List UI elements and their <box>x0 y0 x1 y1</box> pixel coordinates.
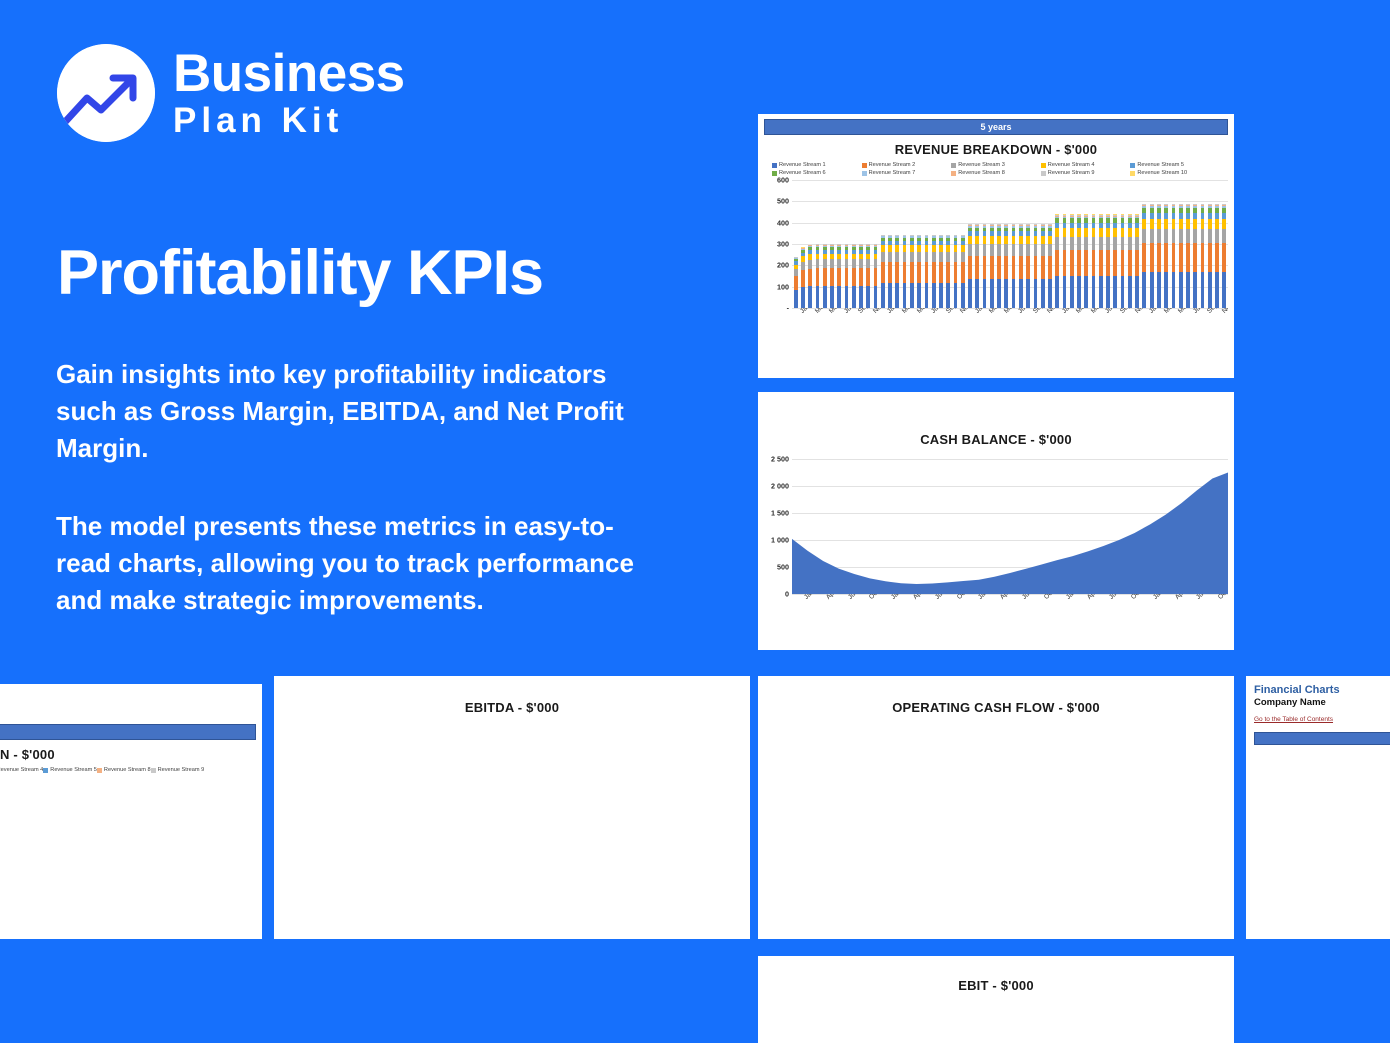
bar-segment <box>1201 219 1205 228</box>
stacked-bar <box>1142 203 1146 308</box>
bar-segment <box>910 283 914 308</box>
bar-slot <box>1104 180 1111 308</box>
bar-segment <box>852 268 856 286</box>
legend-swatch <box>951 163 956 168</box>
bar-segment <box>1142 243 1146 272</box>
bar-segment <box>1179 219 1183 228</box>
bar-segment <box>888 252 892 262</box>
bar-segment <box>975 244 979 256</box>
bar-segment <box>1222 272 1226 308</box>
sheet-header-24-months: 24 months <box>0 724 256 740</box>
bar-slot <box>1163 180 1170 308</box>
stacked-bar <box>1215 203 1219 308</box>
legend-label: Revenue Stream 9 <box>158 767 205 773</box>
bar-segment <box>983 279 987 308</box>
bar-segment <box>808 260 812 269</box>
bar-slot <box>1141 180 1148 308</box>
bar-segment <box>1164 219 1168 228</box>
bar-segment <box>1092 228 1096 236</box>
legend-item: Revenue Stream 1 <box>772 162 862 168</box>
yaxis-tick: 1 000 <box>771 536 789 545</box>
bar-segment <box>1004 256 1008 279</box>
plot-ebitda <box>274 724 750 859</box>
stacked-bar <box>874 244 878 308</box>
bar-slot <box>886 180 893 308</box>
stacked-bar <box>925 234 929 308</box>
bar-segment <box>1084 250 1088 276</box>
stacked-bar <box>917 234 921 308</box>
bar-segment <box>1070 228 1074 236</box>
bar-segment <box>1106 250 1110 276</box>
yaxis-tick: 300 <box>777 240 789 249</box>
legend-item: Revenue Stream 8 <box>951 170 1041 176</box>
bar-segment <box>975 236 979 244</box>
legend-label: Revenue Stream 5 <box>1137 162 1184 168</box>
xaxis-tick-label: Jan-25 <box>803 594 822 601</box>
bar-segment <box>845 286 849 308</box>
bar-segment <box>946 283 950 308</box>
legend-swatch <box>1041 163 1046 168</box>
bar-segment <box>1026 256 1030 279</box>
legend-item: Revenue Stream 4 <box>1041 162 1131 168</box>
bar-segment <box>990 236 994 244</box>
xaxis-ebitda <box>274 859 750 903</box>
bar-segment <box>808 286 812 308</box>
bar-segment <box>1055 237 1059 250</box>
legend-swatch <box>97 768 102 773</box>
bar-segment <box>997 256 1001 279</box>
company-name: Company Name <box>1254 697 1390 708</box>
bar-segment <box>1019 236 1023 244</box>
chart-title-cash-balance: CASH BALANCE - $'000 <box>758 432 1234 447</box>
bar-slot <box>959 180 966 308</box>
bar-segment <box>1121 276 1125 308</box>
bar-segment <box>1055 276 1059 308</box>
legend-item: Revenue Stream 8 <box>97 767 151 773</box>
bar-segment <box>1041 244 1045 256</box>
stacked-bar <box>823 244 827 308</box>
bar-segment <box>939 262 943 282</box>
bar-slot <box>1068 180 1075 308</box>
bar-segment <box>1186 229 1190 244</box>
bar-segment <box>859 259 863 268</box>
stacked-bar <box>990 224 994 308</box>
bar-segment <box>1222 243 1226 272</box>
xaxis-tick-label: Apr-27 <box>999 594 1018 601</box>
xaxis-tick-label: Oct-28 <box>1130 594 1149 601</box>
sheet-header-5-years: 5 years <box>764 119 1228 135</box>
bar-segment <box>1215 272 1219 308</box>
bar-segment <box>1172 219 1176 228</box>
bar-slot <box>1221 180 1228 308</box>
bar-slot <box>1199 180 1206 308</box>
bar-segment <box>1055 228 1059 236</box>
bar-segment <box>1135 228 1139 236</box>
stacked-bar <box>852 244 856 308</box>
bar-segment <box>1150 229 1154 244</box>
bar-slot <box>1075 180 1082 308</box>
legend-item: Revenue Stream 10 <box>1130 170 1220 176</box>
bar-segment <box>794 276 798 290</box>
stacked-bar <box>1012 224 1016 308</box>
chart-title-ebit: EBIT - $'000 <box>758 978 1234 993</box>
bar-segment <box>830 268 834 286</box>
bar-segment <box>1048 256 1052 279</box>
stacked-bar <box>1048 224 1052 308</box>
legend-swatch <box>1130 163 1135 168</box>
legend-swatch <box>951 171 956 176</box>
bar-segment <box>939 245 943 252</box>
legend-label: Revenue Stream 9 <box>1048 170 1095 176</box>
stacked-bar <box>910 234 914 308</box>
bar-segment <box>1026 279 1030 308</box>
bar-segment <box>903 252 907 262</box>
plot-ebit <box>758 999 1234 1043</box>
bar-segment <box>1012 279 1016 308</box>
bar-segment <box>801 287 805 308</box>
bar-segment <box>888 283 892 308</box>
bar-segment <box>859 268 863 286</box>
bar-segment <box>1172 243 1176 272</box>
stacked-bar <box>888 234 892 308</box>
plot-financial-preview <box>1246 771 1390 896</box>
stacked-bar <box>968 224 972 308</box>
bar-slot <box>1003 180 1010 308</box>
yaxis-tick: 600 <box>777 176 789 185</box>
bar-slot <box>843 180 850 308</box>
bar-segment <box>1106 276 1110 308</box>
bar-segment <box>939 283 943 308</box>
bar-segment <box>1179 243 1183 272</box>
bar-segment <box>1121 250 1125 276</box>
bar-segment <box>1208 243 1212 272</box>
stacked-bar <box>1077 214 1081 308</box>
stacked-bar <box>1063 214 1067 308</box>
bar-segment <box>961 245 965 252</box>
bar-segment <box>968 256 972 279</box>
bar-segment <box>961 262 965 282</box>
bar-segment <box>801 262 805 271</box>
table-of-contents-link[interactable]: Go to the Table of Contents <box>1254 716 1333 723</box>
bar-slot <box>1213 180 1220 308</box>
bar-segment <box>1172 229 1176 244</box>
bar-segment <box>1041 236 1045 244</box>
sheet-header-bar <box>1254 732 1390 745</box>
legend-item: Revenue Stream 5 <box>43 767 97 773</box>
bar-segment <box>1201 272 1205 308</box>
bar-slot <box>879 180 886 308</box>
bar-segment <box>881 262 885 282</box>
xaxis-labels: Jan-25Apr-25Jul-25Oct-25Jan-26Apr-26Jul-… <box>792 594 1228 634</box>
stacked-bar <box>932 234 936 308</box>
stacked-bar <box>1193 203 1197 308</box>
bar-segment <box>1070 276 1074 308</box>
bar-segment <box>1019 279 1023 308</box>
bar-segment <box>1179 272 1183 308</box>
bar-slot <box>807 180 814 308</box>
yaxis-tick: 1 500 <box>771 509 789 518</box>
bar-segment <box>823 268 827 286</box>
grid-area <box>792 180 1228 308</box>
bar-segment <box>1004 279 1008 308</box>
bar-segment <box>1150 219 1154 228</box>
bar-segment <box>1026 244 1030 256</box>
bar-segment <box>1034 244 1038 256</box>
bar-segment <box>823 259 827 268</box>
bar-slot <box>1097 180 1104 308</box>
bar-slot <box>1119 180 1126 308</box>
legend-item: Revenue Stream 2 <box>862 162 952 168</box>
bar-segment <box>903 245 907 252</box>
bar-segment <box>1215 229 1219 244</box>
bar-segment <box>1222 219 1226 228</box>
bar-segment <box>888 262 892 282</box>
legend-item: Revenue Stream 7 <box>862 170 952 176</box>
card-revenue-breakdown-24m[interactable]: 24 months REAKDOWN - $'000 Revenue Strea… <box>0 684 262 939</box>
bar-segment <box>954 252 958 262</box>
stacked-bar <box>1201 203 1205 308</box>
bar-segment <box>910 245 914 252</box>
legend-label: Revenue Stream 4 <box>0 767 43 773</box>
bar-segment <box>1128 250 1132 276</box>
bar-segment <box>1135 237 1139 250</box>
bar-segment <box>816 259 820 268</box>
xaxis-tick-label: Apr-25 <box>825 594 844 601</box>
stacked-bar <box>816 244 820 308</box>
xaxis-labels: Jan-25Mar-25May-25Jul-25Sep-25Nov-25Jan-… <box>792 308 1228 348</box>
bar-segment <box>1026 236 1030 244</box>
legend-label: Revenue Stream 10 <box>1137 170 1187 176</box>
bar-slot <box>792 180 799 308</box>
chart-title-ebitda: EBITDA - $'000 <box>274 700 750 715</box>
bar-slot <box>828 180 835 308</box>
bar-segment <box>1113 237 1117 250</box>
bar-segment <box>794 269 798 276</box>
bar-segment <box>917 262 921 282</box>
legend-label: Revenue Stream 8 <box>104 767 151 773</box>
stacked-bar <box>1157 203 1161 308</box>
bar-segment <box>895 245 899 252</box>
bar-segment <box>917 245 921 252</box>
bar-segment <box>1201 243 1205 272</box>
bar-segment <box>997 279 1001 308</box>
bar-segment <box>845 259 849 268</box>
bar-slot <box>1126 180 1133 308</box>
xaxis-tick-label: Jul-27 <box>1021 594 1039 601</box>
legend-label: Revenue Stream 8 <box>958 170 1005 176</box>
stacked-bar <box>1099 214 1103 308</box>
bar-segment <box>1164 243 1168 272</box>
bar-segment <box>1157 272 1161 308</box>
bar-segment <box>852 259 856 268</box>
legend-swatch <box>862 171 867 176</box>
bar-slot <box>974 180 981 308</box>
stacked-bar <box>1092 214 1096 308</box>
bar-segment <box>1193 243 1197 272</box>
stacked-bar <box>1113 214 1117 308</box>
bar-slot <box>908 180 915 308</box>
bar-segment <box>1092 250 1096 276</box>
bar-segment <box>874 286 878 308</box>
bar-segment <box>881 245 885 252</box>
bar-segment <box>968 279 972 308</box>
stacked-bar <box>975 224 979 308</box>
bar-series <box>792 180 1228 308</box>
card-financial-charts[interactable]: Financial Charts Company Name Go to the … <box>1246 676 1390 939</box>
bar-segment <box>845 268 849 286</box>
card-revenue-breakdown-5y[interactable]: 5 years REVENUE BREAKDOWN - $'000 Revenu… <box>758 114 1234 378</box>
bar-segment <box>968 244 972 256</box>
stacked-bar <box>1070 214 1074 308</box>
stacked-bar <box>1179 203 1183 308</box>
yaxis-tick: 2 000 <box>771 482 789 491</box>
xaxis-tick-label: Oct-26 <box>956 594 975 601</box>
bar-segment <box>866 286 870 308</box>
bar-segment <box>1019 244 1023 256</box>
stacked-bar <box>1055 214 1059 308</box>
bar-segment <box>1004 236 1008 244</box>
bar-segment <box>961 283 965 308</box>
plot-operating-cash-flow <box>758 722 1234 859</box>
xaxis-tick-label: Jan-28 <box>1065 594 1084 601</box>
yaxis-tick: 100 <box>777 282 789 291</box>
legend-swatch <box>1130 171 1135 176</box>
xaxis-revenue-breakdown: Jan-25Mar-25May-25Jul-25Sep-25Nov-25Jan-… <box>758 308 1234 352</box>
bar-segment <box>1012 244 1016 256</box>
bar-segment <box>1099 237 1103 250</box>
bar-segment <box>1142 229 1146 244</box>
stacked-bar <box>1222 203 1226 308</box>
bar-segment <box>1208 229 1212 244</box>
plot-revenue-breakdown-24m <box>0 787 262 897</box>
bar-slot <box>930 180 937 308</box>
bar-segment <box>1150 272 1154 308</box>
bar-segment <box>983 256 987 279</box>
chart-legend-revenue-breakdown: Revenue Stream 1Revenue Stream 2Revenue … <box>758 162 1234 178</box>
brand-name-line2: Plan Kit <box>173 103 405 140</box>
stacked-bar <box>1019 224 1023 308</box>
card-operating-cash-flow[interactable]: OPERATING CASH FLOW - $'000 <box>758 676 1234 939</box>
bar-segment <box>1034 256 1038 279</box>
bar-slot <box>1192 180 1199 308</box>
bar-segment <box>1077 237 1081 250</box>
bar-segment <box>990 256 994 279</box>
bar-segment <box>1092 276 1096 308</box>
legend-swatch <box>1041 171 1046 176</box>
bar-slot <box>850 180 857 308</box>
stacked-bar <box>1164 203 1168 308</box>
bar-segment <box>968 236 972 244</box>
bar-segment <box>1186 219 1190 228</box>
bar-segment <box>1063 250 1067 276</box>
bar-slot <box>872 180 879 308</box>
bar-segment <box>1113 250 1117 276</box>
bar-segment <box>1019 256 1023 279</box>
bar-segment <box>1215 219 1219 228</box>
bar-segment <box>1193 219 1197 228</box>
stacked-bar <box>866 244 870 308</box>
bar-slot <box>1083 180 1090 308</box>
bar-slot <box>981 180 988 308</box>
bar-segment <box>903 283 907 308</box>
area-series <box>792 459 1228 594</box>
bar-segment <box>1041 256 1045 279</box>
xaxis-tick-label: Jan-27 <box>977 594 996 601</box>
stacked-bar <box>1186 203 1190 308</box>
bar-segment <box>1186 243 1190 272</box>
bar-slot <box>836 180 843 308</box>
bar-segment <box>1157 219 1161 228</box>
bar-slot <box>1061 180 1068 308</box>
bar-segment <box>1150 243 1154 272</box>
card-ebitda[interactable]: EBITDA - $'000 <box>274 676 750 939</box>
bar-segment <box>1142 219 1146 228</box>
legend-label: Revenue Stream 3 <box>958 162 1005 168</box>
bar-slot <box>1054 180 1061 308</box>
bar-slot <box>966 180 973 308</box>
bar-slot <box>916 180 923 308</box>
bar-segment <box>1070 250 1074 276</box>
bar-segment <box>1012 256 1016 279</box>
bar-segment <box>925 262 929 282</box>
bar-segment <box>990 279 994 308</box>
bar-segment <box>852 286 856 308</box>
bar-slot <box>1206 180 1213 308</box>
stacked-bar <box>1128 214 1132 308</box>
bar-segment <box>816 268 820 286</box>
card-cash-balance[interactable]: CASH BALANCE - $'000 2 5002 0001 5001 00… <box>758 392 1234 650</box>
bar-segment <box>1172 272 1176 308</box>
bar-segment <box>1121 228 1125 236</box>
bar-segment <box>801 270 805 287</box>
bar-slot <box>857 180 864 308</box>
bar-segment <box>1193 272 1197 308</box>
bar-segment <box>874 268 878 286</box>
bar-segment <box>932 252 936 262</box>
stacked-bar <box>859 244 863 308</box>
bar-segment <box>1222 229 1226 244</box>
stacked-bar <box>830 244 834 308</box>
legend-item: Revenue Stream 5 <box>1130 162 1220 168</box>
bar-segment <box>1113 276 1117 308</box>
bar-segment <box>990 244 994 256</box>
bar-segment <box>1063 276 1067 308</box>
bar-segment <box>997 244 1001 256</box>
bar-segment <box>866 268 870 286</box>
chart-title-operating-cash-flow: OPERATING CASH FLOW - $'000 <box>758 700 1234 715</box>
stacked-bar <box>1004 224 1008 308</box>
stacked-bar <box>1026 224 1030 308</box>
bar-slot <box>1148 180 1155 308</box>
bar-segment <box>1201 229 1205 244</box>
bar-segment <box>925 283 929 308</box>
bar-segment <box>866 259 870 268</box>
xaxis-revenue-breakdown-24m <box>0 897 262 937</box>
bar-slot <box>1039 180 1046 308</box>
stacked-bar <box>939 234 943 308</box>
bar-segment <box>975 279 979 308</box>
bar-slot <box>988 180 995 308</box>
card-ebit[interactable]: EBIT - $'000 <box>758 956 1234 1043</box>
legend-item: Revenue Stream 4 <box>0 767 43 773</box>
bar-slot <box>799 180 806 308</box>
bar-segment <box>917 252 921 262</box>
hero-paragraph-2: The model presents these metrics in easy… <box>56 508 656 619</box>
stacked-bar <box>1121 214 1125 308</box>
bar-segment <box>1142 272 1146 308</box>
bar-segment <box>1157 229 1161 244</box>
growth-chart-arrow-icon <box>57 44 155 142</box>
